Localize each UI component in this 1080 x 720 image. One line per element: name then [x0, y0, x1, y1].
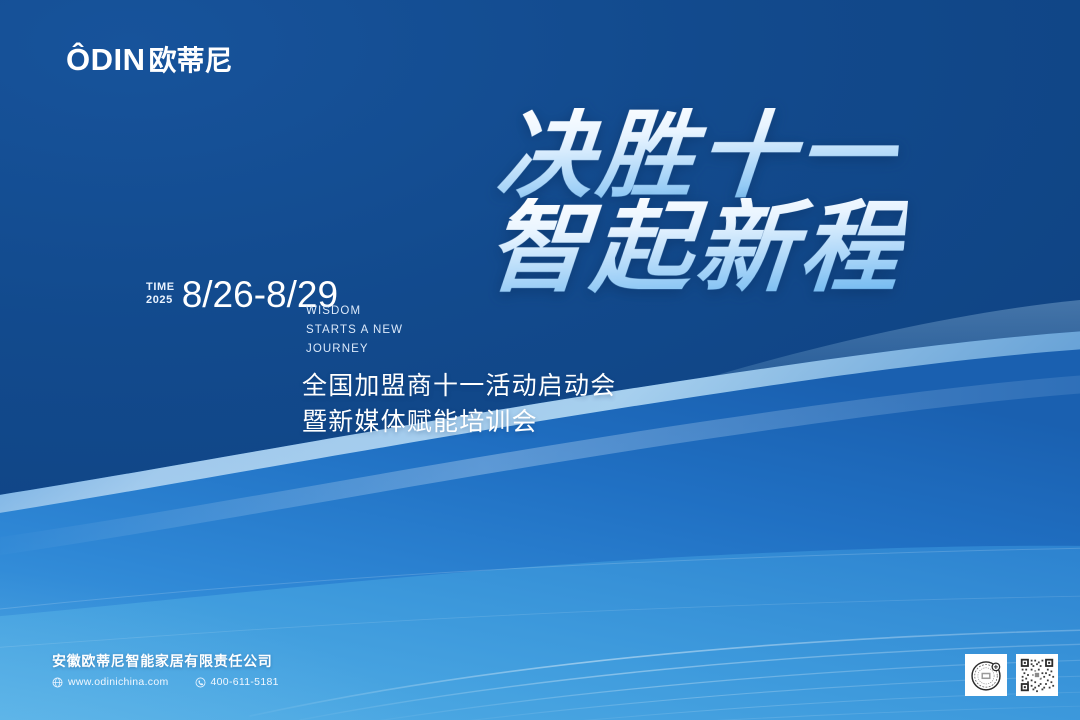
time-label-year: 2025 [146, 294, 175, 307]
brand-logo[interactable]: ÔDIN 欧蒂尼 [66, 44, 233, 75]
subtitle-line-2: 暨新媒体赋能培训会 [302, 404, 616, 440]
tagline-line-2: STARTS A NEW [306, 321, 403, 340]
phone-item[interactable]: 400-611-5181 [195, 676, 279, 688]
qr-code-badge[interactable] [1016, 654, 1058, 696]
phone-icon [195, 677, 206, 688]
badge-group [965, 654, 1058, 696]
seal-icon [968, 657, 1004, 693]
official-seal-badge[interactable] [965, 654, 1007, 696]
phone-text: 400-611-5181 [211, 676, 279, 688]
english-tagline: WISDOM STARTS A NEW JOURNEY [306, 302, 403, 359]
tagline-line-3: JOURNEY [306, 340, 403, 359]
tagline-line-1: WISDOM [306, 302, 403, 321]
subtitle-line-1: 全国加盟商十一活动启动会 [302, 368, 616, 404]
contact-row: www.odinichina.com 400-611-5181 [52, 676, 279, 688]
qr-code-icon [1019, 657, 1055, 693]
globe-icon [52, 677, 63, 688]
headline: 决胜十一 智起新程 [488, 108, 898, 296]
event-poster: ÔDIN 欧蒂尼 决胜十一 智起新程 TIME 2025 8/26-8/29 W… [0, 0, 1080, 720]
time-label-word: TIME [146, 281, 175, 294]
logo-chinese-name: 欧蒂尼 [149, 47, 233, 75]
footer: 安徽欧蒂尼智能家居有限责任公司 www.odinichina.com 400-6… [52, 652, 279, 688]
time-label: TIME 2025 [146, 281, 175, 309]
website-item[interactable]: www.odinichina.com [52, 676, 169, 688]
headline-line-2: 智起新程 [484, 198, 909, 296]
website-text: www.odinichina.com [68, 676, 169, 688]
company-name: 安徽欧蒂尼智能家居有限责任公司 [52, 652, 279, 670]
event-subtitle: 全国加盟商十一活动启动会 暨新媒体赋能培训会 [302, 368, 616, 441]
logo-wordmark: ÔDIN [66, 44, 146, 75]
